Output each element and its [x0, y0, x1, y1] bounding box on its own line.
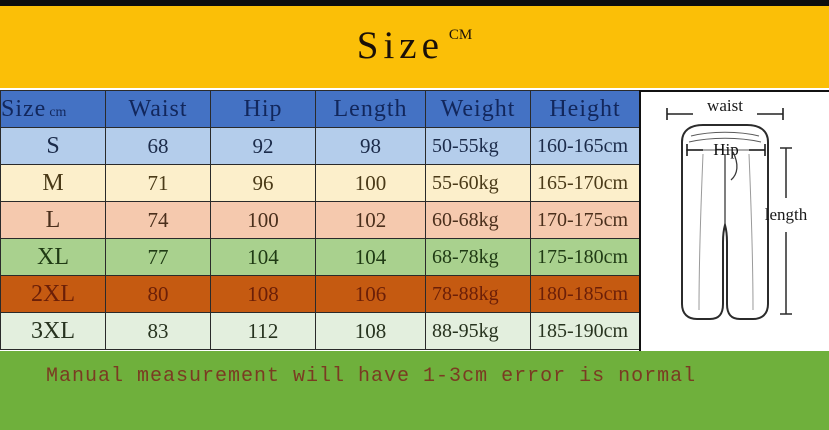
- cell-length: 104: [316, 239, 426, 276]
- table-row: L 74 100 102 60-68kg 170-175cm: [1, 202, 640, 239]
- cell-length: 98: [316, 128, 426, 165]
- table-body: S 68 92 98 50-55kg 160-165cm M 71 96 100…: [1, 128, 640, 350]
- column-header-size: Sizecm: [1, 91, 106, 128]
- table-row: 3XL 83 112 108 88-95kg 185-190cm: [1, 313, 640, 350]
- column-header-size-label: Size: [1, 96, 46, 122]
- title-wrap: Size CM: [357, 26, 473, 65]
- cell-height: 165-170cm: [531, 165, 640, 202]
- column-header-size-unit: cm: [49, 105, 66, 120]
- cell-weight: 60-68kg: [426, 202, 531, 239]
- cell-hip: 96: [211, 165, 316, 202]
- cell-weight: 88-95kg: [426, 313, 531, 350]
- cell-length: 102: [316, 202, 426, 239]
- table-header-row: Sizecm Waist Hip Length Weight Height: [1, 91, 640, 128]
- cell-height: 175-180cm: [531, 239, 640, 276]
- cell-size: M: [1, 165, 106, 202]
- cell-waist: 80: [106, 276, 211, 313]
- cell-height: 185-190cm: [531, 313, 640, 350]
- cell-height: 180-185cm: [531, 276, 640, 313]
- column-header-height: Height: [531, 91, 640, 128]
- size-table-area: Sizecm Waist Hip Length Weight Height S …: [0, 90, 639, 351]
- measurement-note: Manual measurement will have 1-3cm error…: [46, 365, 696, 388]
- column-header-weight: Weight: [426, 91, 531, 128]
- cell-size: 3XL: [1, 313, 106, 350]
- cell-weight: 68-78kg: [426, 239, 531, 276]
- page-title: Size: [357, 26, 444, 65]
- cell-weight: 50-55kg: [426, 128, 531, 165]
- cell-size: S: [1, 128, 106, 165]
- column-header-length: Length: [316, 91, 426, 128]
- cell-hip: 100: [211, 202, 316, 239]
- table-row: 2XL 80 108 106 78-88kg 180-185cm: [1, 276, 640, 313]
- cell-waist: 83: [106, 313, 211, 350]
- length-arrow-icon: [780, 148, 792, 314]
- pants-diagram-svg: waist: [641, 92, 829, 351]
- cell-length: 108: [316, 313, 426, 350]
- column-header-waist: Waist: [106, 91, 211, 128]
- cell-hip: 104: [211, 239, 316, 276]
- cell-hip: 92: [211, 128, 316, 165]
- cell-size: 2XL: [1, 276, 106, 313]
- cell-size: L: [1, 202, 106, 239]
- table-row: XL 77 104 104 68-78kg 175-180cm: [1, 239, 640, 276]
- cell-length: 100: [316, 165, 426, 202]
- cell-waist: 71: [106, 165, 211, 202]
- size-chart-page: Size CM Sizecm Waist Hip Length Weight H…: [0, 0, 829, 430]
- column-header-hip: Hip: [211, 91, 316, 128]
- cell-waist: 68: [106, 128, 211, 165]
- title-unit-superscript: CM: [449, 28, 472, 43]
- hip-label: Hip: [713, 140, 739, 159]
- title-banner: Size CM: [0, 6, 829, 88]
- cell-hip: 108: [211, 276, 316, 313]
- size-table: Sizecm Waist Hip Length Weight Height S …: [0, 90, 640, 350]
- cell-waist: 77: [106, 239, 211, 276]
- cell-weight: 55-60kg: [426, 165, 531, 202]
- cell-weight: 78-88kg: [426, 276, 531, 313]
- cell-length: 106: [316, 276, 426, 313]
- footer-banner: Manual measurement will have 1-3cm error…: [0, 351, 829, 430]
- cell-size: XL: [1, 239, 106, 276]
- length-label: length: [765, 205, 808, 224]
- cell-waist: 74: [106, 202, 211, 239]
- cell-hip: 112: [211, 313, 316, 350]
- cell-height: 170-175cm: [531, 202, 640, 239]
- table-row: S 68 92 98 50-55kg 160-165cm: [1, 128, 640, 165]
- waist-label: waist: [707, 96, 743, 115]
- table-header: Sizecm Waist Hip Length Weight Height: [1, 91, 640, 128]
- cell-height: 160-165cm: [531, 128, 640, 165]
- table-row: M 71 96 100 55-60kg 165-170cm: [1, 165, 640, 202]
- pants-measurement-diagram: waist: [639, 90, 829, 351]
